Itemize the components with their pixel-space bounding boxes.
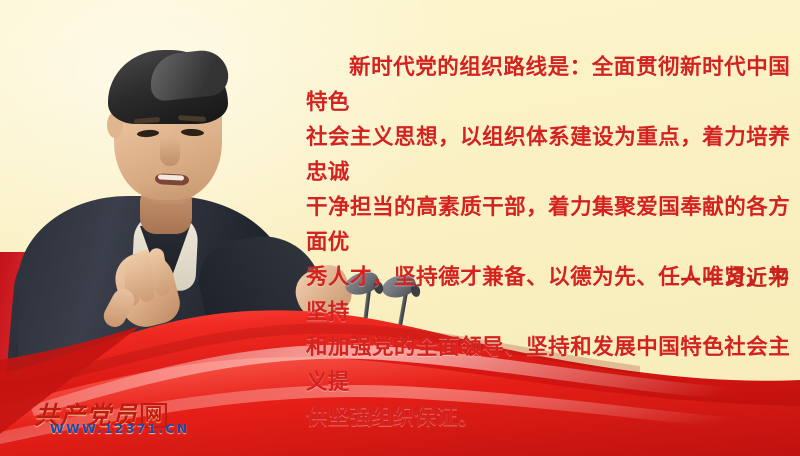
nose — [160, 138, 180, 166]
poster-canvas: 新时代党的组织路线是：全面贯彻新时代中国特色 社会主义思想，以组织体系建设为重点… — [0, 0, 800, 456]
quote-line-1: 新时代党的组织路线是：全面贯彻新时代中国特色 — [306, 50, 790, 120]
quote-line-6: 供坚强组织保证。 — [306, 400, 790, 435]
quote-line-5: 和加强党的全面领导、坚持和发展中国特色社会主义提 — [306, 330, 790, 400]
quote-line-3: 干净担当的高素质干部，着力集聚爱国奉献的各方面优 — [306, 190, 790, 260]
quote-text: 新时代党的组织路线是：全面贯彻新时代中国特色 社会主义思想，以组织体系建设为重点… — [306, 50, 790, 435]
site-watermark[interactable]: 共产党员网 WWW.12371.CN — [34, 396, 194, 446]
quote-attribution: ——习近平 — [306, 262, 790, 292]
site-url[interactable]: WWW.12371.CN — [50, 421, 189, 436]
quote-line-2: 社会主义思想，以组织体系建设为重点，着力培养忠诚 — [306, 120, 790, 190]
